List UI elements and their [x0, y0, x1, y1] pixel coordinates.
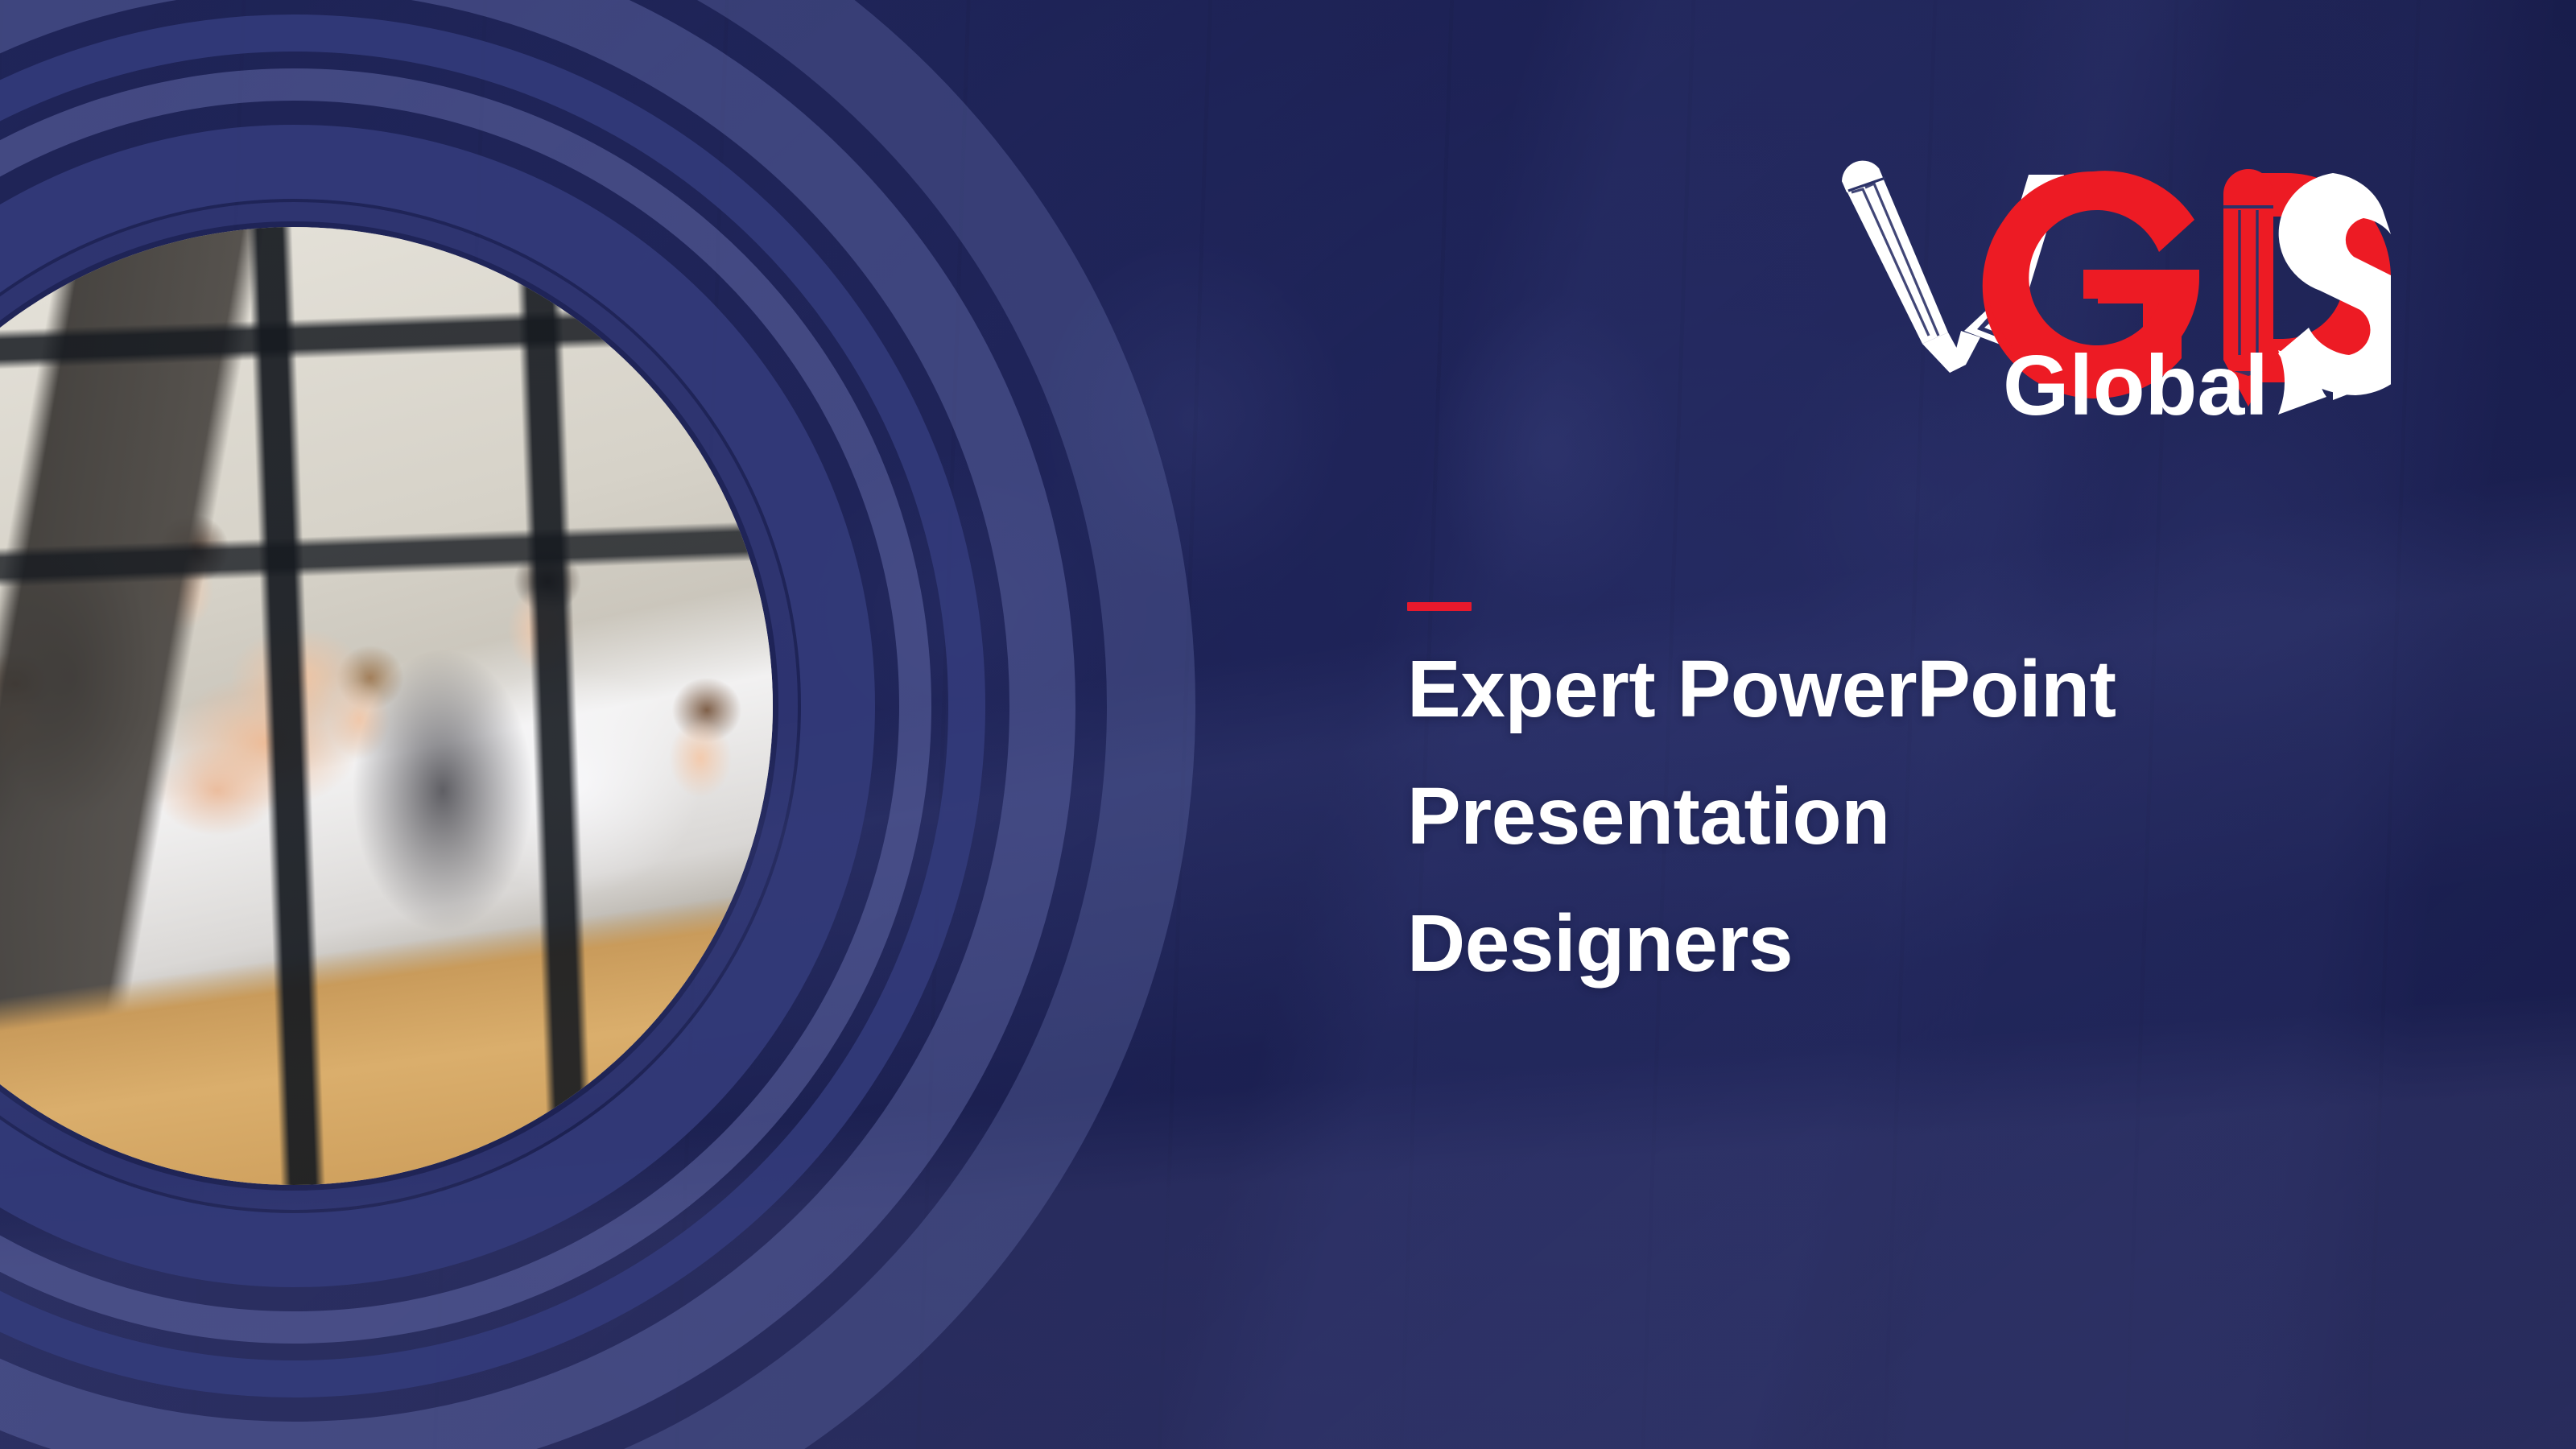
headline-line-1: Expert PowerPoint: [1407, 625, 2454, 753]
vgds-global-logo[interactable]: Global: [1827, 157, 2391, 431]
logo-tagline: Global: [2003, 338, 2268, 431]
presentation-slide: Global Expert PowerPoint Presentation De…: [0, 0, 2576, 1449]
page-title: Expert PowerPoint Presentation Designers: [1407, 625, 2454, 1007]
headline-line-2: Presentation: [1407, 753, 2454, 880]
headline-line-3: Designers: [1407, 880, 2454, 1007]
headline-block: Expert PowerPoint Presentation Designers: [1407, 602, 2454, 1007]
red-accent-bar: [1407, 602, 1472, 611]
team-high-five-photo-image: [0, 227, 773, 1185]
team-high-five-photo: [0, 227, 773, 1185]
